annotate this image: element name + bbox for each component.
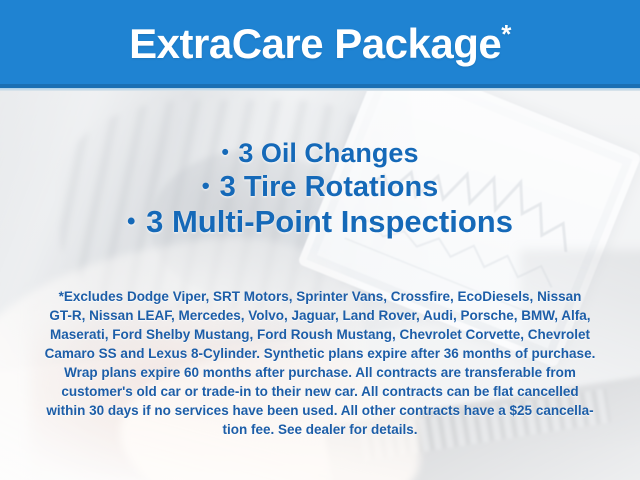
bullet-dot-icon: • [127, 208, 135, 235]
disclaimer-line: customer's old car or trade-in to their … [0, 382, 640, 401]
disclaimer-line: Wrap plans expire 60 months after purcha… [0, 363, 640, 382]
disclaimer-line: tion fee. See dealer for details. [0, 420, 640, 439]
disclaimer-line: GT-R, Nissan LEAF, Mercedes, Volvo, Jagu… [0, 306, 640, 325]
disclaimer-text: *Excludes Dodge Viper, SRT Motors, Sprin… [0, 287, 640, 439]
package-benefits-list: • 3 Oil Changes • 3 Tire Rotations • 3 M… [0, 138, 640, 241]
list-item-label: 3 Multi-Point Inspections [146, 204, 513, 239]
title-asterisk: * [501, 19, 511, 49]
page-title-text: ExtraCare Package [129, 20, 501, 67]
bullet-dot-icon: • [222, 141, 229, 164]
list-item: • 3 Tire Rotations [0, 170, 640, 204]
disclaimer-line: *Excludes Dodge Viper, SRT Motors, Sprin… [0, 287, 640, 306]
extracare-promo-graphic: ExtraCare Package* • 3 Oil Changes • 3 T… [0, 0, 640, 480]
list-item-label: 3 Oil Changes [238, 138, 418, 168]
disclaimer-line: Maserati, Ford Shelby Mustang, Ford Rous… [0, 325, 640, 344]
banner-sheen-strip [0, 88, 640, 91]
list-item: • 3 Oil Changes [0, 138, 640, 170]
list-item-label: 3 Tire Rotations [220, 171, 439, 203]
disclaimer-line: within 30 days if no services have been … [0, 401, 640, 420]
disclaimer-line: Camaro SS and Lexus 8-Cylinder. Syntheti… [0, 344, 640, 363]
header-banner: ExtraCare Package* [0, 0, 640, 88]
page-title: ExtraCare Package* [129, 23, 511, 65]
bullet-dot-icon: • [202, 173, 210, 198]
list-item: • 3 Multi-Point Inspections [0, 204, 640, 241]
